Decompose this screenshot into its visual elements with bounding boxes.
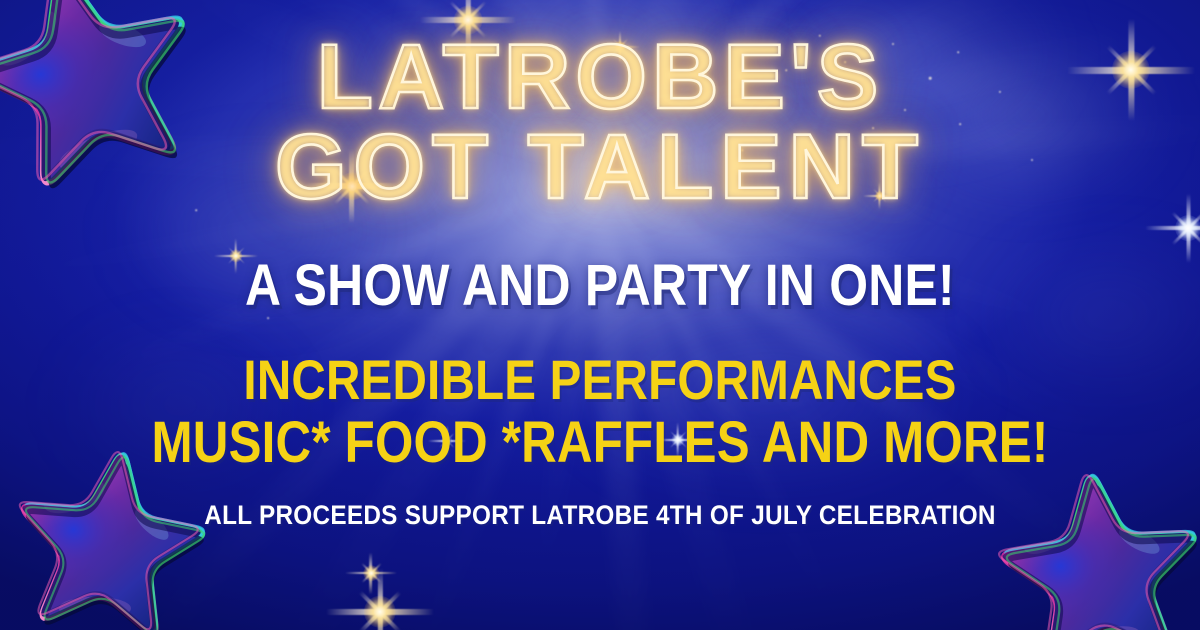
headline-line-1: LATROBE'S bbox=[0, 34, 1200, 120]
tagline: ALL PROCEEDS SUPPORT LATROBE 4TH OF JULY… bbox=[60, 500, 1140, 531]
headline: LATROBE'S GOT TALENT bbox=[0, 34, 1200, 211]
feature-line-2: MUSIC* FOOD *RAFFLES AND MORE! bbox=[90, 414, 1110, 472]
poster-content: LATROBE'S GOT TALENT A SHOW AND PARTY IN… bbox=[0, 0, 1200, 630]
headline-line-2: GOT TALENT bbox=[0, 124, 1200, 210]
promotional-poster: LATROBE'S GOT TALENT A SHOW AND PARTY IN… bbox=[0, 0, 1200, 630]
subtitle: A SHOW AND PARTY IN ONE! bbox=[84, 252, 1116, 319]
features-block: INCREDIBLE PERFORMANCES MUSIC* FOOD *RAF… bbox=[0, 352, 1200, 472]
feature-line-1: INCREDIBLE PERFORMANCES bbox=[90, 352, 1110, 408]
